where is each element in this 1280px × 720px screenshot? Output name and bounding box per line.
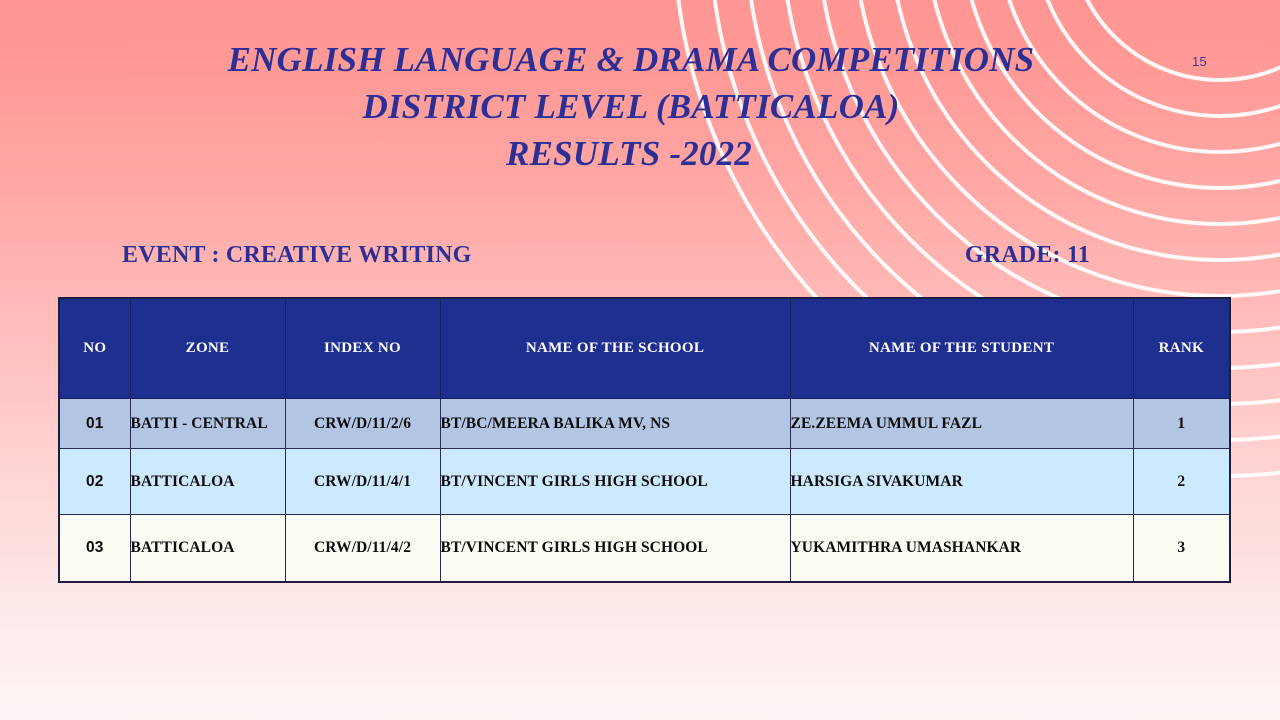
table-row: 01 BATTI - CENTRAL CRW/D/11/2/6 BT/BC/ME… [59,399,1230,449]
event-label: EVENT : CREATIVE WRITING [122,242,472,269]
title-line-1: ENGLISH LANGUAGE & DRAMA COMPETITIONS [0,36,1280,83]
cell-zone: BATTI - CENTRAL [130,399,285,449]
cell-zone: BATTICALOA [130,449,285,515]
column-header-school: NAME OF THE SCHOOL [440,298,790,399]
cell-student: ZE.ZEEMA UMMUL FAZL [790,399,1133,449]
column-header-rank: RANK [1133,298,1230,399]
cell-index: CRW/D/11/2/6 [285,399,440,449]
cell-school: BT/VINCENT GIRLS HIGH SCHOOL [440,515,790,582]
cell-no: 02 [59,449,130,515]
cell-rank: 1 [1133,399,1230,449]
column-header-student: NAME OF THE STUDENT [790,298,1133,399]
table-row: 02 BATTICALOA CRW/D/11/4/1 BT/VINCENT GI… [59,449,1230,515]
cell-zone: BATTICALOA [130,515,285,582]
cell-index: CRW/D/11/4/2 [285,515,440,582]
column-header-no: NO [59,298,130,399]
page-title: ENGLISH LANGUAGE & DRAMA COMPETITIONS DI… [0,36,1280,177]
table-row: 03 BATTICALOA CRW/D/11/4/2 BT/VINCENT GI… [59,515,1230,582]
cell-school: BT/VINCENT GIRLS HIGH SCHOOL [440,449,790,515]
slide-canvas: 15 ENGLISH LANGUAGE & DRAMA COMPETITIONS… [0,0,1280,720]
event-grade-row: EVENT : CREATIVE WRITING GRADE: 11 [122,242,1090,269]
cell-no: 03 [59,515,130,582]
table-header-row: NO ZONE INDEX NO NAME OF THE SCHOOL NAME… [59,298,1230,399]
title-line-2: DISTRICT LEVEL (BATTICALOA) [0,83,1280,130]
cell-school: BT/BC/MEERA BALIKA MV, NS [440,399,790,449]
cell-rank: 3 [1133,515,1230,582]
column-header-zone: ZONE [130,298,285,399]
cell-no: 01 [59,399,130,449]
cell-student: HARSIGA SIVAKUMAR [790,449,1133,515]
cell-index: CRW/D/11/4/1 [285,449,440,515]
cell-student: YUKAMITHRA UMASHANKAR [790,515,1133,582]
title-line-3: RESULTS -2022 [0,130,1280,177]
column-header-index: INDEX NO [285,298,440,399]
grade-label: GRADE: 11 [965,242,1090,269]
results-table: NO ZONE INDEX NO NAME OF THE SCHOOL NAME… [58,297,1231,583]
cell-rank: 2 [1133,449,1230,515]
